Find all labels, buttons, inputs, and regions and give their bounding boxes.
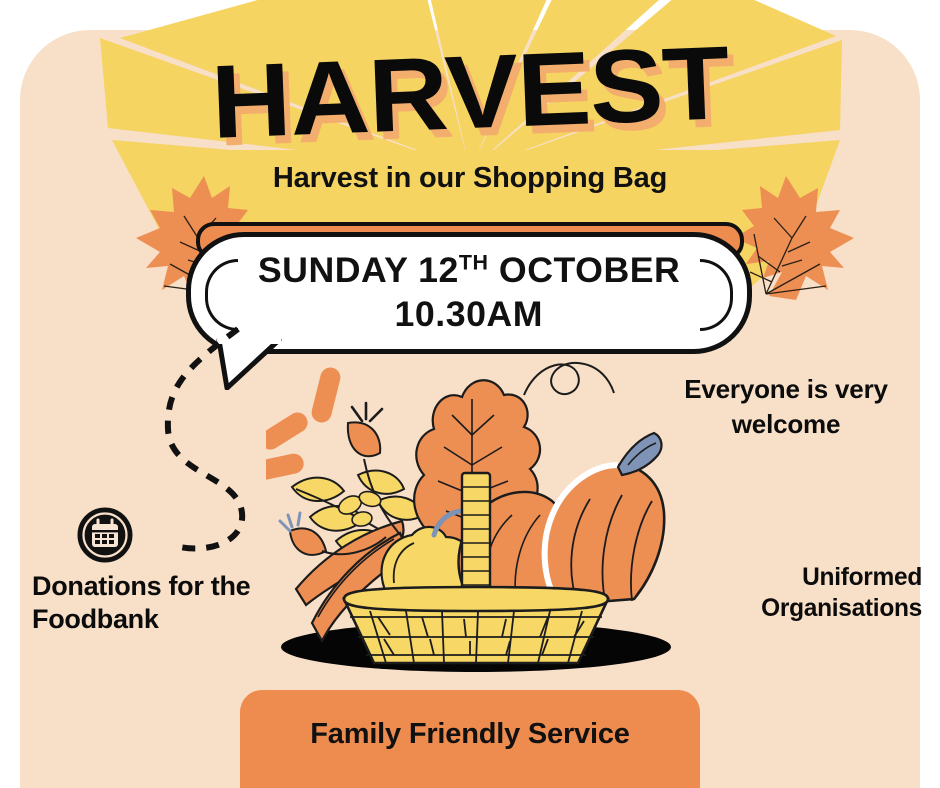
event-date-ordinal: TH xyxy=(459,251,489,274)
uniformed-note: Uniformed Organisations xyxy=(665,562,922,623)
bottom-banner: Family Friendly Service xyxy=(240,690,700,788)
calendar-icon xyxy=(76,506,134,564)
banner-text: Family Friendly Service xyxy=(240,718,700,751)
harvest-basket-illustration xyxy=(266,355,676,685)
event-details: SUNDAY 12TH OCTOBER 10.30AM xyxy=(191,237,747,349)
event-date-prefix: SUNDAY 12 xyxy=(258,251,459,290)
welcome-note: Everyone is very welcome xyxy=(648,372,924,442)
event-date-suffix: OCTOBER xyxy=(488,251,680,290)
event-speech-bubble: SUNDAY 12TH OCTOBER 10.30AM xyxy=(186,232,752,354)
harvest-poster: HARVEST HARVEST Harvest in our Shopping … xyxy=(0,0,940,788)
title-block: HARVEST HARVEST xyxy=(0,44,940,144)
event-date: SUNDAY 12TH OCTOBER xyxy=(258,251,680,291)
event-time: 10.30AM xyxy=(395,295,543,335)
poster-title: HARVEST HARVEST xyxy=(224,35,716,153)
title-text: HARVEST xyxy=(210,34,731,154)
